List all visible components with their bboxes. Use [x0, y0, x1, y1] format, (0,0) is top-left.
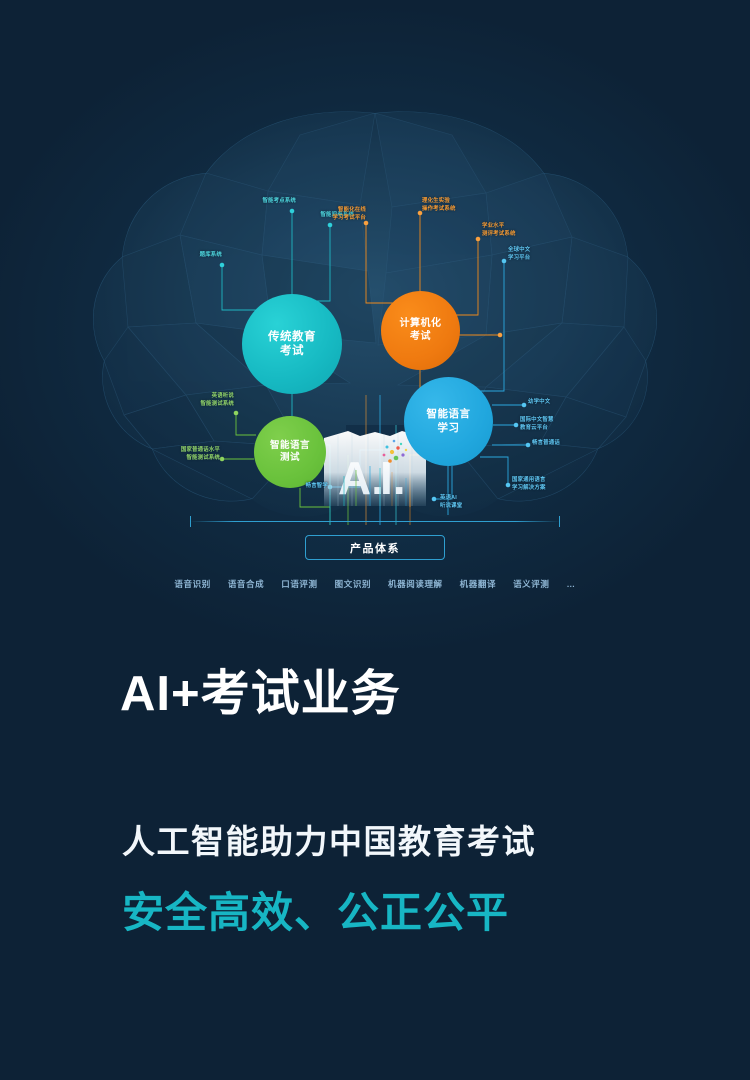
page-title: AI+考试业务 — [120, 668, 680, 722]
leaf-english-listening-speaking-test-system[interactable]: 英语听说 智能测试系统 — [170, 393, 234, 409]
node-computerized-exam[interactable]: 计算机化 考试 — [381, 291, 460, 370]
leaf-english-ai-listening-speaking-class[interactable]: 英语AI 听说课堂 — [440, 495, 488, 511]
leaf-national-putonghua-test-system[interactable]: 国家普通话水平 智能测试系统 — [152, 447, 220, 463]
baseline-divider — [190, 521, 560, 522]
headline-block: AI+考试业务 — [120, 668, 680, 722]
node-label-line2: 考试 — [280, 344, 304, 358]
leaf-academic-level-assessment-exam-system[interactable]: 学业水平 测评考试系统 — [482, 223, 544, 239]
node-label-line2: 测试 — [280, 452, 300, 464]
tag-machine-translation[interactable]: 机器翻译 — [460, 578, 496, 590]
capability-tag-row: 语音识别 语音合成 口语评测 图文识别 机器阅读理解 机器翻译 语义评测 … — [0, 578, 750, 590]
node-intelligent-language-learning[interactable]: 智能语言 学习 — [404, 377, 493, 466]
node-label-line2: 考试 — [410, 331, 431, 344]
leaf-national-common-language-learning-solution[interactable]: 国家通用语言 学习解决方案 — [512, 477, 574, 493]
leaf-international-chinese-smart-education-cloud[interactable]: 国际中文智慧 教育云平台 — [520, 417, 582, 433]
leaf-smart-online-learning-exam-platform[interactable]: 智能化在线 学习考试平台 — [306, 207, 366, 223]
node-intelligent-language-test[interactable]: 智能语言 测试 — [254, 416, 326, 488]
tagline: 安全高效、公正公平 — [122, 889, 682, 937]
node-label-line1: 智能语言 — [270, 440, 310, 452]
tag-speech-recognition[interactable]: 语音识别 — [174, 578, 210, 590]
node-label-line1: 智能语言 — [427, 408, 471, 421]
tag-image-text-recognition[interactable]: 图文识别 — [335, 578, 371, 590]
tag-oral-evaluation[interactable]: 口语评测 — [281, 578, 317, 590]
baseline-cap-left — [190, 516, 191, 527]
node-label-line2: 学习 — [438, 422, 460, 435]
product-system-badge[interactable]: 产品体系 — [305, 535, 445, 560]
tag-speech-synthesis[interactable]: 语音合成 — [228, 578, 264, 590]
subhead-block: 人工智能助力中国教育考试 安全高效、公正公平 — [122, 822, 682, 937]
subheading: 人工智能助力中国教育考试 — [122, 822, 682, 862]
node-traditional-exam[interactable]: 传统教育 考试 — [242, 294, 342, 394]
leaf-physics-chemistry-biology-lab-exam-system[interactable]: 理化生实验 操作考试系统 — [422, 198, 484, 214]
leaf-changyan-putonghua[interactable]: 畅言普通话 — [532, 440, 590, 448]
node-label-line1: 计算机化 — [400, 318, 442, 331]
baseline-cap-right — [559, 516, 560, 527]
leaf-smart-exam-room-system[interactable]: 智能考点系统 — [234, 198, 296, 206]
leaf-changyan-smart-learning[interactable]: 畅言智学 — [282, 483, 328, 491]
tag-more-ellipsis: … — [566, 579, 575, 589]
ai-letter-a: A. — [338, 452, 384, 504]
node-label-line1: 传统教育 — [268, 330, 316, 344]
tag-semantic-evaluation[interactable]: 语义评测 — [513, 578, 549, 590]
poster-root: A. I. — [0, 0, 750, 1080]
ai-letter-i: I. — [380, 452, 406, 504]
leaf-young-learner-chinese[interactable]: 幼学中文 — [528, 399, 576, 407]
brain-diagram: A. I. — [0, 95, 750, 565]
leaf-question-bank-system[interactable]: 题库系统 — [176, 252, 222, 260]
leaf-global-chinese-learning-platform[interactable]: 全球中文 学习平台 — [508, 247, 562, 263]
tag-machine-reading-comprehension[interactable]: 机器阅读理解 — [388, 578, 443, 590]
